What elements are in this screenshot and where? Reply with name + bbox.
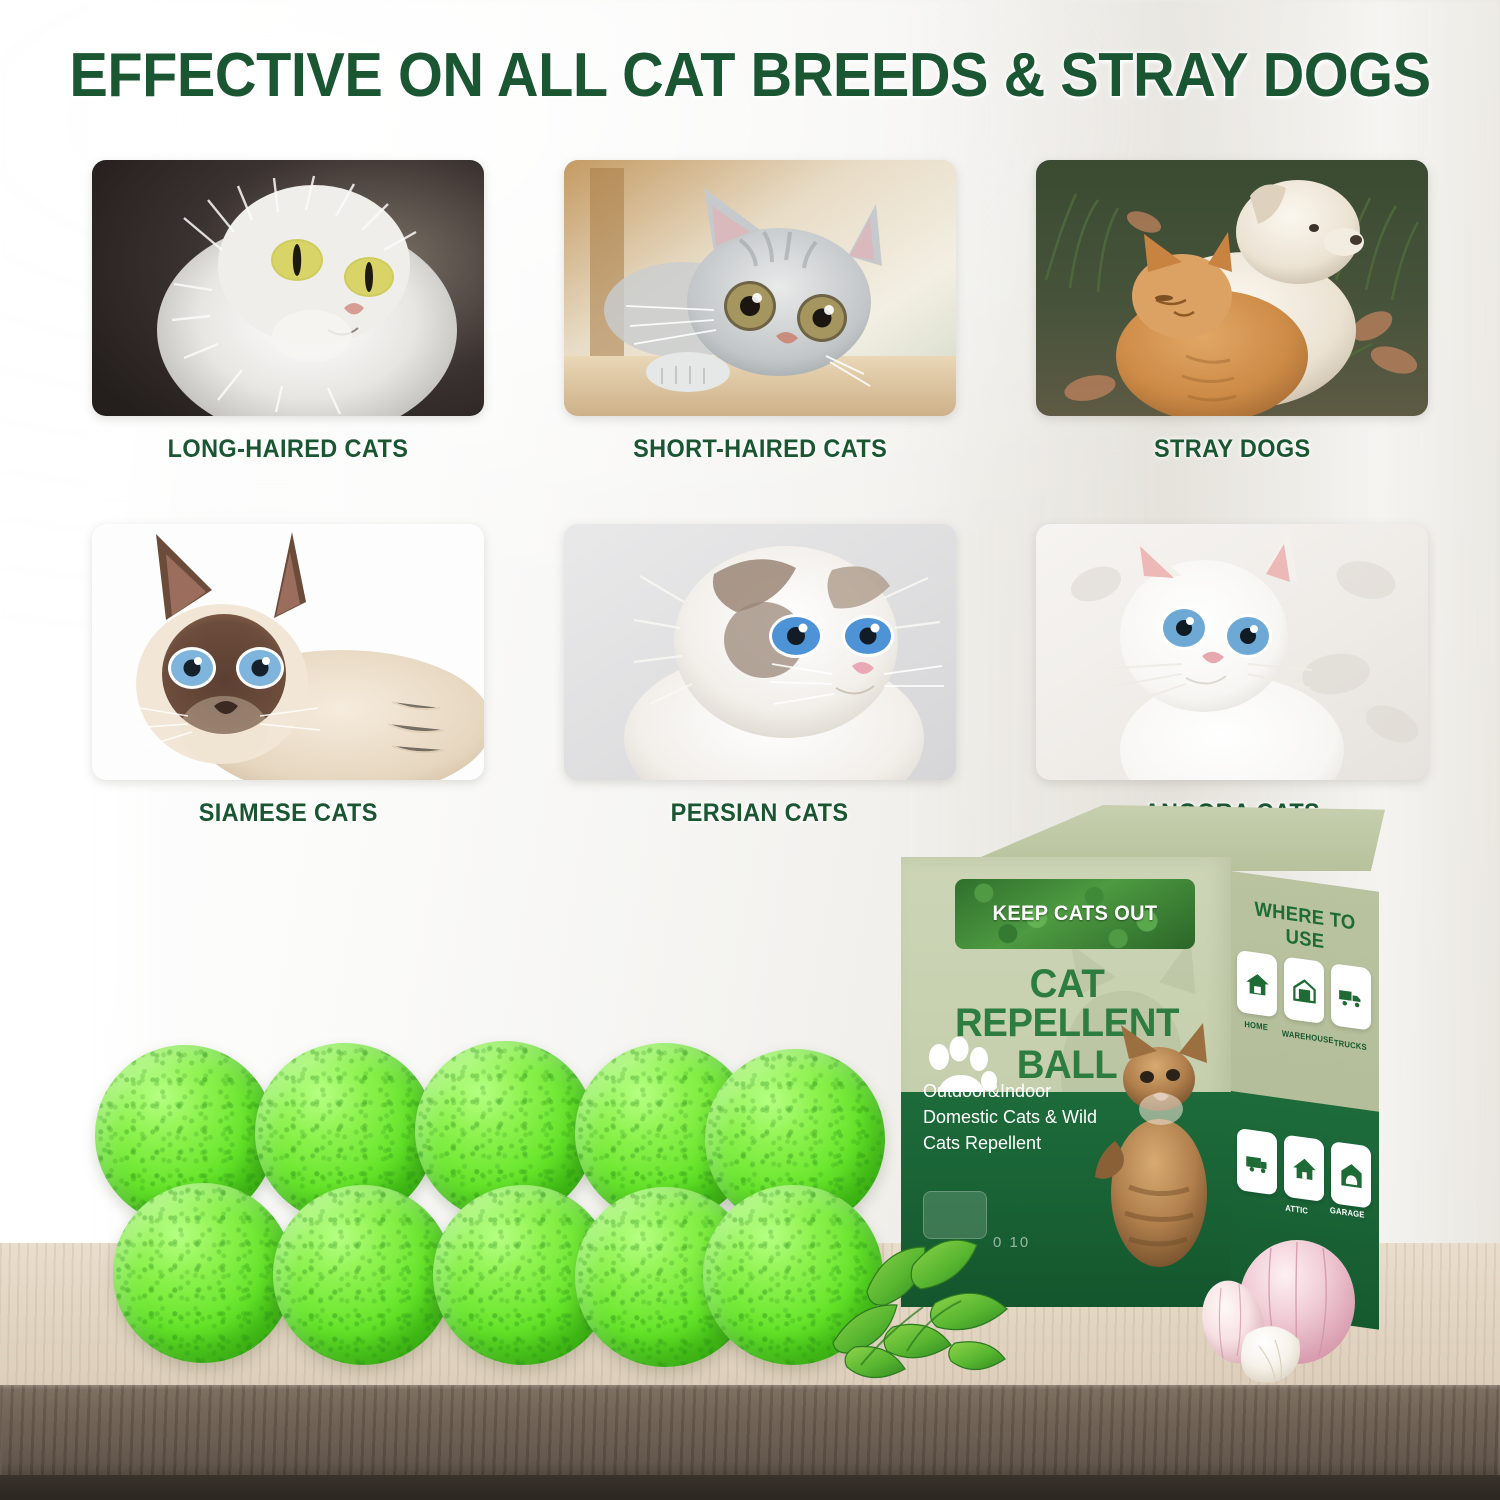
house-icon bbox=[1237, 950, 1277, 1018]
repellent-balls-group bbox=[95, 1035, 885, 1365]
use-icon-label-home: HOME bbox=[1244, 1019, 1268, 1032]
breed-label: STRAY DOGS bbox=[1154, 435, 1311, 464]
warehouse-icon bbox=[1284, 956, 1324, 1024]
keep-cats-out-text: KEEP CATS OUT bbox=[961, 879, 1189, 949]
garlic-bulbs bbox=[1175, 1230, 1360, 1385]
breed-card-short-haired-cats[interactable]: SHORT-HAIRED CATS bbox=[564, 160, 956, 464]
short-haired-cat-photo bbox=[564, 160, 956, 416]
breed-grid: LONG-HAIRED CATS bbox=[92, 160, 1428, 828]
use-icon-label-trucks: TRUCKS bbox=[1334, 1037, 1367, 1052]
breed-row-1: LONG-HAIRED CATS bbox=[92, 160, 1428, 464]
stray-dog-photo bbox=[1036, 160, 1428, 416]
table-front-edge bbox=[0, 1385, 1500, 1475]
long-haired-cat-photo bbox=[92, 160, 484, 416]
repellent-ball bbox=[273, 1185, 453, 1365]
repellent-ball bbox=[113, 1183, 293, 1363]
breed-card-persian-cats[interactable]: PERSIAN CATS bbox=[564, 524, 956, 828]
mint-sprig bbox=[815, 1225, 1075, 1385]
breed-card-stray-dogs[interactable]: STRAY DOGS bbox=[1036, 160, 1428, 464]
page-title: EFFECTIVE ON ALL CAT BREEDS & STRAY DOGS bbox=[53, 44, 1448, 107]
rv-camper-icon bbox=[1237, 1128, 1277, 1196]
persian-cat-photo bbox=[564, 524, 956, 780]
breed-label: PERSIAN CATS bbox=[671, 799, 849, 828]
siamese-cat-photo bbox=[92, 524, 484, 780]
mint-banner: KEEP CATS OUT bbox=[955, 879, 1195, 949]
breed-card-angora-cats[interactable]: ANGORA CATS bbox=[1036, 524, 1428, 828]
attic-house-icon bbox=[1284, 1134, 1324, 1202]
garage-icon bbox=[1331, 1141, 1371, 1209]
where-to-use-title: WHERE TO USE bbox=[1244, 897, 1365, 960]
breed-label: SIAMESE CATS bbox=[198, 799, 377, 828]
breed-card-siamese-cats[interactable]: SIAMESE CATS bbox=[92, 524, 484, 828]
truck-icon bbox=[1331, 963, 1371, 1031]
angora-cat-photo bbox=[1036, 524, 1428, 780]
breed-label: SHORT-HAIRED CATS bbox=[633, 435, 887, 464]
breed-row-2: SIAMESE CATS bbox=[92, 524, 1428, 828]
breed-label: LONG-HAIRED CATS bbox=[168, 435, 409, 464]
use-icons-row-1 bbox=[1237, 950, 1371, 1031]
breed-card-long-haired-cats[interactable]: LONG-HAIRED CATS bbox=[92, 160, 484, 464]
use-icon-label-warehouse: WAREHOUSE bbox=[1282, 1028, 1334, 1045]
table-under-shadow bbox=[0, 1475, 1500, 1500]
